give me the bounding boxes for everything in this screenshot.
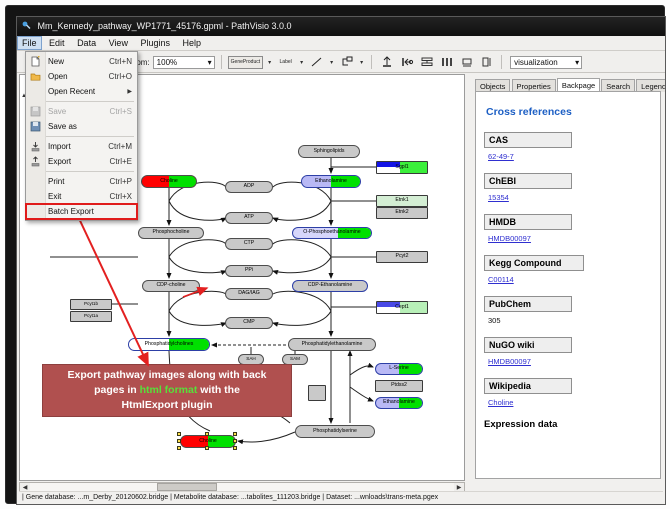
line-dropdown-icon[interactable]: ▾ (328, 59, 335, 66)
menu-item-label: Save (48, 107, 66, 116)
node-atp[interactable]: ATP (225, 212, 273, 224)
zoom-combobox[interactable]: 100% ▾ (153, 56, 215, 69)
node-phosphatidylcholines[interactable]: Phosphatidylcholines (128, 338, 210, 351)
menu-item-label: Batch Export (48, 207, 94, 216)
callout-highlight: html format (140, 384, 198, 396)
node-label: Ethanolamine (383, 400, 415, 405)
menu-item-import[interactable]: Import Ctrl+M (26, 139, 137, 154)
selection-handle[interactable] (233, 432, 237, 436)
save-as-icon (30, 121, 41, 132)
node-ctp[interactable]: CTP (225, 238, 273, 250)
callout-line-2a: pages in (94, 384, 140, 396)
selection-handle[interactable] (205, 432, 209, 436)
toolbar-divider-3 (501, 55, 502, 69)
menu-item-batch-export[interactable]: Batch Export (26, 204, 137, 219)
node-label: ATP (244, 215, 254, 220)
gene-label: Pcyt1b (84, 302, 98, 307)
datanode-tool-label: GeneProduct (231, 59, 260, 65)
menu-separator (46, 101, 134, 102)
node-cdp-choline[interactable]: CDP-choline (142, 280, 200, 292)
selection-handle[interactable] (177, 439, 181, 443)
menu-data[interactable]: Data (72, 36, 101, 50)
hscroll-track[interactable] (30, 483, 454, 491)
node-ppi[interactable]: PPi (225, 265, 273, 277)
menu-help[interactable]: Help (178, 36, 207, 50)
node-label: SAM (290, 357, 300, 362)
pathvisio-icon (21, 19, 32, 30)
menu-item-label: Import (48, 142, 71, 151)
node-label: CMP (243, 320, 255, 325)
menu-item-open-recent[interactable]: Open Recent ▶ (26, 84, 137, 99)
selection-handle[interactable] (177, 432, 181, 436)
node-o-phosphoethanolamine[interactable]: O-Phosphoethanolamine (292, 227, 372, 239)
callout-line-2b: with the (197, 384, 240, 396)
file-menu-dropdown[interactable]: New Ctrl+N Open Ctrl+O Open Recent ▶ (25, 51, 138, 221)
selection-handle[interactable] (233, 446, 237, 450)
window-frame: Mm_Kennedy_pathway_WP1771_45176.gpml - P… (5, 5, 665, 504)
menu-item-accel: Ctrl+E (110, 157, 132, 166)
window-titlebar: Mm_Kennedy_pathway_WP1771_45176.gpml - P… (17, 17, 665, 36)
xref-header-chebi: ChEBI (484, 173, 572, 189)
gene-pcyt1b[interactable]: Pcyt1b (70, 299, 112, 310)
datanode-dropdown-icon[interactable]: ▾ (266, 59, 273, 66)
save-icon (30, 106, 41, 117)
menu-item-save: Save Ctrl+S (26, 104, 137, 119)
node-label: O-Phosphoethanolamine (303, 230, 360, 235)
menu-item-new[interactable]: New Ctrl+N (26, 54, 137, 69)
menu-item-accel: Ctrl+P (110, 177, 132, 186)
export-icon (30, 156, 41, 167)
gene-etnk2[interactable]: Etnk2 (376, 207, 428, 219)
xref-value-wikipedia[interactable]: Choline (488, 398, 652, 407)
screenshot-root: Mm_Kennedy_pathway_WP1771_45176.gpml - P… (0, 0, 670, 509)
backpage-panel: Cross references CAS 62-49-7 ChEBI 15354… (475, 91, 661, 479)
line-tool-button[interactable] (308, 54, 325, 71)
node-phosphatidylethanolamine[interactable]: Phosphatidylethanolamine (288, 338, 376, 351)
xref-value-kegg[interactable]: C00114 (488, 275, 652, 284)
node-label: L-Serine (389, 366, 409, 371)
gene-sgpl1[interactable]: Sgpl1 (376, 161, 428, 174)
visualization-value: visualization (514, 58, 558, 67)
node-phosphocholine[interactable]: Phosphocholine (138, 227, 204, 239)
menubar: File Edit Data View Plugins Help (17, 36, 665, 51)
node-label: CDP-Ethanolamine (308, 283, 352, 288)
visualization-combobox[interactable]: visualization ▾ (510, 56, 582, 69)
node-label: SAH (246, 357, 255, 362)
align-left-icon[interactable] (398, 54, 415, 71)
common-width-icon[interactable] (458, 54, 475, 71)
gene-label: Ptdss2 (391, 383, 407, 388)
gene-label: Etnk1 (395, 198, 408, 203)
interaction-tool-button[interactable] (338, 54, 355, 71)
annotation-callout: Export pathway images along with back pa… (42, 364, 292, 417)
xref-link-wikipedia[interactable]: Choline (488, 398, 513, 407)
xref-header-nugo: NuGO wiki (484, 337, 572, 353)
window-title-text: Mm_Kennedy_pathway_WP1771_45176.gpml - P… (38, 21, 292, 31)
application-window: Mm_Kennedy_pathway_WP1771_45176.gpml - P… (16, 16, 666, 505)
menu-separator-3 (46, 171, 134, 172)
selection-handle[interactable] (233, 439, 237, 443)
menu-item-label: New (48, 57, 64, 66)
xref-link-hmdb[interactable]: HMDB00097 (488, 234, 531, 243)
menu-file[interactable]: File (17, 36, 42, 50)
expression-data-heading: Expression data (484, 419, 652, 430)
xref-link-kegg[interactable]: C00114 (488, 275, 514, 284)
menu-plugins[interactable]: Plugins (135, 36, 175, 50)
common-height-icon[interactable] (478, 54, 495, 71)
align-top-icon[interactable] (378, 54, 395, 71)
import-icon (30, 141, 41, 152)
node-phosphatidylserine[interactable]: Phosphatidylserine (295, 425, 375, 438)
selection-handle[interactable] (205, 446, 209, 450)
menu-item-exit[interactable]: Exit Ctrl+X (26, 189, 137, 204)
zoom-value: 100% (157, 58, 177, 67)
node-sphingolipids[interactable]: Sphingolipids (298, 145, 360, 158)
label-dropdown-icon[interactable]: ▾ (298, 59, 305, 66)
xref-value-cas[interactable]: 62-49-7 (488, 152, 652, 161)
menu-item-label: Export (48, 157, 71, 166)
node-label: DAG/IAG (238, 291, 260, 296)
menu-item-open[interactable]: Open Ctrl+O (26, 69, 137, 84)
toolbar-divider (221, 55, 222, 69)
gene-label: Sgpl1 (395, 165, 408, 170)
datanode-tool-button[interactable]: GeneProduct (228, 56, 263, 69)
node-label: Choline (160, 179, 178, 184)
gene-label: Pcyt2 (396, 254, 409, 259)
gene-pcyt2[interactable]: Pcyt2 (376, 251, 428, 263)
new-file-icon (30, 56, 41, 67)
node-ethanolamine-bottom[interactable]: Ethanolamine (375, 397, 423, 409)
node-label: Phosphatidylserine (313, 429, 357, 434)
menu-item-label: Save as (48, 122, 77, 131)
node-label: Ethanolamine (315, 179, 347, 184)
stack-icon[interactable] (418, 54, 435, 71)
toolbar-divider-2 (371, 55, 372, 69)
scroll-right-icon[interactable]: ▶ (454, 483, 464, 491)
open-folder-icon (30, 71, 41, 82)
node-label: Phosphocholine (153, 230, 190, 235)
tab-backpage[interactable]: Backpage (557, 78, 600, 92)
node-label: Choline (199, 439, 217, 444)
label-tool-button[interactable]: Label (276, 57, 295, 68)
xref-header-wikipedia: Wikipedia (484, 378, 572, 394)
chevron-down-icon: ▾ (208, 58, 212, 67)
node-ethanolamine-top[interactable]: Ethanolamine (301, 175, 361, 188)
node-label: CTP (244, 241, 254, 246)
side-panel-tabs: Objects Properties Backpage Search Legen… (475, 78, 661, 92)
label-tool-label: Label (280, 59, 292, 65)
gene-label: Etnk2 (395, 210, 408, 215)
callout-line-3: HtmlExport plugin (122, 399, 213, 411)
menu-item-accel: Ctrl+N (109, 57, 132, 66)
node-dag-ag[interactable]: DAG/IAG (225, 288, 273, 300)
submenu-arrow-icon: ▶ (127, 88, 132, 95)
menu-item-save-as[interactable]: Save as (26, 119, 137, 134)
node-label: ADP (244, 184, 255, 189)
xref-header-pubchem: PubChem (484, 296, 572, 312)
xref-header-kegg: Kegg Compound (484, 255, 584, 271)
scroll-left-icon[interactable]: ◀ (20, 483, 30, 491)
interaction-dropdown-icon[interactable]: ▾ (358, 59, 365, 66)
side-panel: Objects Properties Backpage Search Legen… (467, 74, 663, 481)
menu-item-accel: Ctrl+O (109, 72, 132, 81)
xref-value-chebi[interactable]: 15354 (488, 193, 652, 202)
node-label: PPi (245, 268, 253, 273)
gene-pcyt1a[interactable]: Pcyt1a (70, 311, 112, 322)
menu-item-accel: Ctrl+X (110, 192, 132, 201)
menu-item-accel: Ctrl+M (108, 142, 132, 151)
gene-ptdss2[interactable]: Ptdss2 (375, 380, 423, 392)
xref-value-nugo[interactable]: HMDB00097 (488, 357, 652, 366)
node-label: Phosphatidylethanolamine (302, 342, 363, 347)
xref-link-chebi[interactable]: 15354 (488, 193, 509, 202)
node-label: Sphingolipids (314, 149, 345, 154)
xref-header-cas: CAS (484, 132, 572, 148)
menu-item-export[interactable]: Export Ctrl+E (26, 154, 137, 169)
node-cmp[interactable]: CMP (225, 317, 273, 329)
node-label: Phosphatidylcholines (145, 342, 194, 347)
node-choline-top[interactable]: Choline (141, 175, 197, 188)
xref-link-cas[interactable]: 62-49-7 (488, 152, 514, 161)
menu-item-print[interactable]: Print Ctrl+P (26, 174, 137, 189)
node-label: CDP-choline (156, 283, 185, 288)
xref-link-nugo[interactable]: HMDB00097 (488, 357, 531, 366)
menu-item-accel: Ctrl+S (110, 107, 132, 116)
menu-item-label: Open Recent (48, 87, 95, 96)
gene-etnk1[interactable]: Etnk1 (376, 195, 428, 207)
chevron-down-icon-2: ▾ (575, 58, 579, 67)
gene-unlabeled-mid[interactable] (308, 385, 326, 401)
menu-edit[interactable]: Edit (44, 36, 70, 50)
callout-line-1: Export pathway images along with back (68, 369, 267, 381)
menu-item-label: Exit (48, 192, 61, 201)
gene-label: Cept1 (395, 305, 409, 310)
menu-item-label: Open (48, 72, 68, 81)
backpage-title: Cross references (486, 106, 652, 118)
xref-header-hmdb: HMDB (484, 214, 572, 230)
hscroll-thumb[interactable] (157, 483, 216, 491)
node-adp[interactable]: ADP (225, 181, 273, 193)
menu-item-label: Print (48, 177, 64, 186)
menu-separator-2 (46, 136, 134, 137)
xref-value-pubchem: 305 (488, 316, 652, 325)
xref-value-hmdb[interactable]: HMDB00097 (488, 234, 652, 243)
node-l-serine[interactable]: L-Serine (375, 363, 423, 375)
gene-cept1[interactable]: Cept1 (376, 301, 428, 314)
menu-view[interactable]: View (104, 36, 133, 50)
selection-handle[interactable] (177, 446, 181, 450)
statusbar: | Gene database: ...m_Derby_20120602.bri… (19, 491, 663, 503)
distribute-icon[interactable] (438, 54, 455, 71)
gene-label: Pcyt1a (84, 314, 98, 319)
node-cdp-ethanolamine[interactable]: CDP-Ethanolamine (292, 280, 368, 292)
